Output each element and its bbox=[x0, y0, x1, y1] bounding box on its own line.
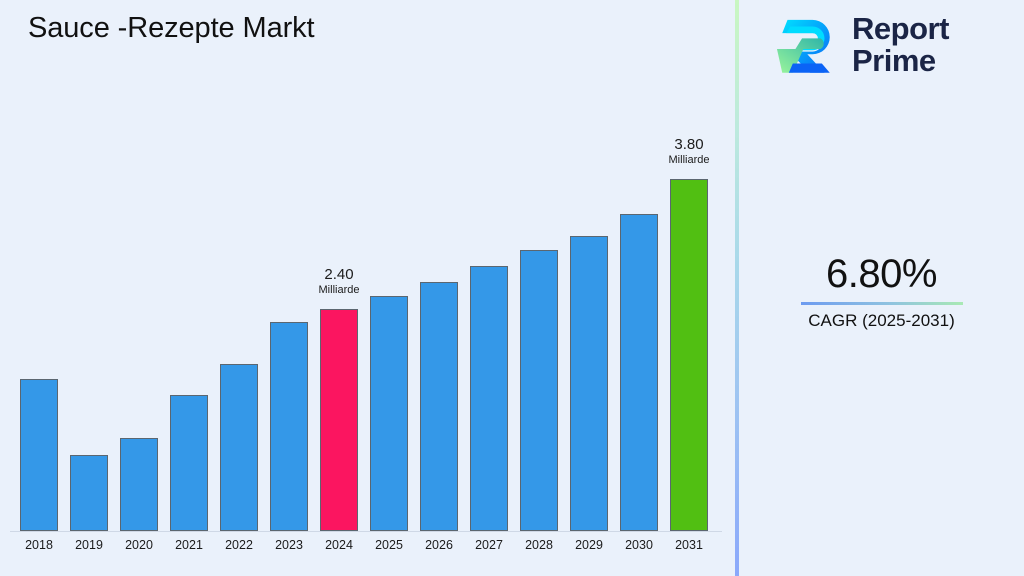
bar-2022[interactable] bbox=[220, 364, 258, 531]
brand-panel: Report Prime 6.80% CAGR (2025-2031) bbox=[739, 0, 1024, 576]
bar-2029[interactable] bbox=[570, 236, 608, 531]
bar-value-2024: 2.40 bbox=[294, 267, 384, 284]
brand-logo: Report Prime bbox=[773, 12, 949, 78]
bar-2030[interactable] bbox=[620, 214, 658, 531]
bar-2031[interactable] bbox=[670, 179, 708, 531]
bar-2026[interactable] bbox=[420, 282, 458, 531]
bar-2025[interactable] bbox=[370, 296, 408, 531]
cagr-rule-divider bbox=[801, 302, 963, 305]
brand-name: Report Prime bbox=[852, 13, 949, 76]
bar-2020[interactable] bbox=[120, 438, 158, 531]
x-tick-2031: 2031 bbox=[659, 538, 719, 552]
report-prime-r-logo-icon bbox=[773, 12, 839, 78]
infographic-page: Sauce -Rezepte Markt 2.40Milliarde3.80Mi… bbox=[0, 0, 1024, 576]
bar-2023[interactable] bbox=[270, 322, 308, 531]
bar-2028[interactable] bbox=[520, 250, 558, 531]
bar-value-label-2024: 2.40Milliarde bbox=[294, 267, 384, 296]
brand-name-line1: Report bbox=[852, 13, 949, 45]
brand-name-line2: Prime bbox=[852, 45, 949, 77]
bar-2027[interactable] bbox=[470, 266, 508, 531]
bar-value-label-2031: 3.80Milliarde bbox=[644, 137, 734, 166]
bar-unit-2024: Milliarde bbox=[294, 284, 384, 296]
x-axis-line bbox=[10, 531, 722, 532]
bar-2019[interactable] bbox=[70, 455, 108, 531]
cagr-block: 6.80% CAGR (2025-2031) bbox=[739, 252, 1024, 331]
bar-2024[interactable] bbox=[320, 309, 358, 531]
bar-value-2031: 3.80 bbox=[644, 137, 734, 154]
cagr-caption: CAGR (2025-2031) bbox=[739, 311, 1024, 331]
bar-2018[interactable] bbox=[20, 379, 58, 531]
bar-2021[interactable] bbox=[170, 395, 208, 531]
chart-panel: Sauce -Rezepte Markt 2.40Milliarde3.80Mi… bbox=[0, 0, 737, 576]
bar-unit-2031: Milliarde bbox=[644, 154, 734, 166]
cagr-value: 6.80% bbox=[739, 252, 1024, 296]
bar-chart-plot: 2.40Milliarde3.80Milliarde 2018201920202… bbox=[0, 0, 737, 576]
